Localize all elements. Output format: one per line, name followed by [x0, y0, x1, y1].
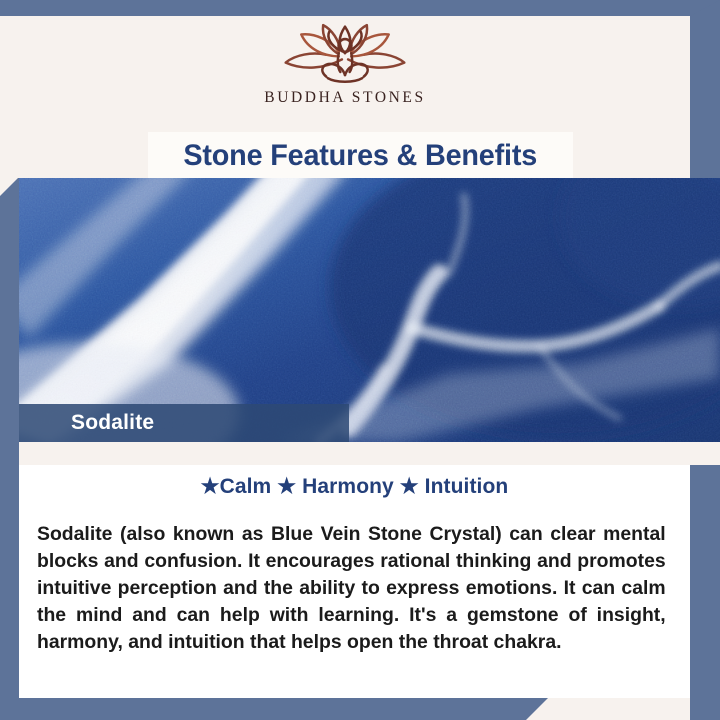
lotus-meditation-icon — [267, 22, 423, 86]
page-title: Stone Features & Benefits — [184, 139, 538, 173]
frame-left-strip — [0, 178, 19, 698]
benefits-panel: ★Calm ★ Harmony ★ Intuition Sodalite (al… — [19, 465, 690, 698]
frame-top-strip — [0, 0, 720, 16]
stone-image — [19, 178, 720, 442]
frame-bottom-strip — [0, 698, 548, 720]
brand-name: BUDDHA STONES — [0, 89, 690, 107]
title-band: Stone Features & Benefits — [148, 132, 573, 180]
stone-info-poster: BUDDHA STONES Stone Features & Benefits — [0, 0, 720, 720]
poster-header: BUDDHA STONES Stone Features & Benefits — [0, 16, 690, 178]
sodalite-texture-graphic — [19, 178, 720, 442]
benefit-keywords: ★Calm ★ Harmony ★ Intuition — [19, 474, 690, 499]
stone-name-banner: Sodalite — [19, 404, 349, 442]
panel-top-cream-strip — [19, 442, 720, 465]
stone-description: Sodalite (also known as Blue Vein Stone … — [37, 521, 666, 656]
brand-logo: BUDDHA STONES — [0, 22, 690, 107]
stone-name: Sodalite — [71, 411, 154, 435]
